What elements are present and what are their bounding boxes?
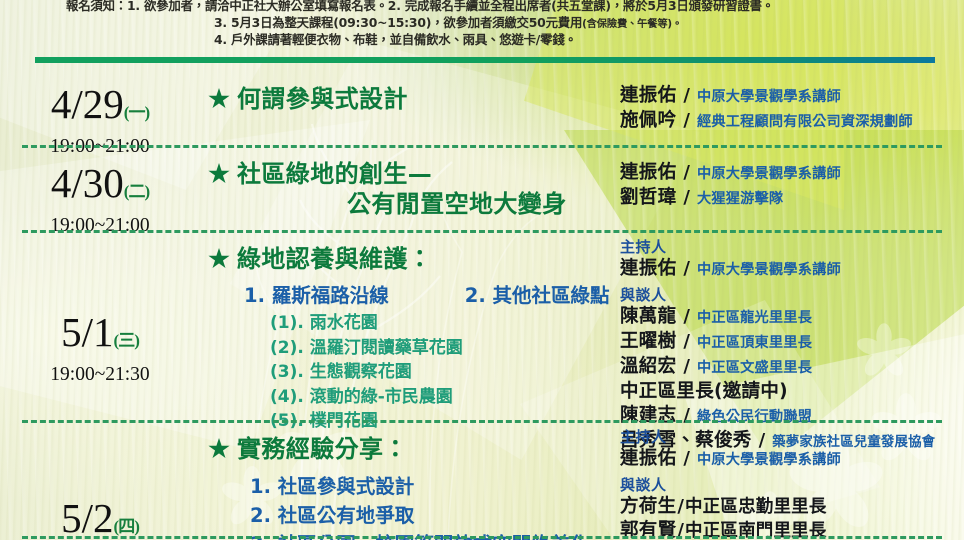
star-icon xyxy=(208,163,230,185)
speaker-name: 方荷生 xyxy=(620,495,676,519)
header-divider-rule xyxy=(35,57,935,63)
schedule-row: 4/29(一)19:00~21:00何謂參與式設計連振佑/中原大學景觀學系講師施… xyxy=(0,66,964,145)
speaker-name: 連振佑 xyxy=(620,161,676,185)
note-line-2: 3. 5月3日為整天課程(09:30~15:30)，欲參加者須繳交50元費用(含… xyxy=(18,15,946,33)
row-dashed-divider xyxy=(22,145,942,148)
speaker-line: 連振佑/中原大學景觀學系講師 xyxy=(620,447,960,472)
topic-numbered-item: 1. 社區參與式設計 xyxy=(250,472,614,501)
speaker-line: 中正區里長(邀請中) xyxy=(620,380,960,404)
speaker-name: 連振佑 xyxy=(620,84,676,108)
speaker-affiliation: 中正區文盛里里長 xyxy=(697,356,812,380)
speaker-separator: / xyxy=(676,305,697,329)
session-speakers-cell: 連振佑/中原大學景觀學系講師施佩吟/經典工程顧問有限公司資深規劃師 xyxy=(620,66,964,134)
panelist-label: 與談人 xyxy=(620,286,960,305)
speaker-affiliation: 中原大學景觀學系講師 xyxy=(697,162,841,186)
topic-sublist-item: 1. 羅斯福路沿線 xyxy=(244,283,389,309)
session-date: 4/29(一) xyxy=(0,82,200,135)
host-label: 主持人 xyxy=(620,238,960,257)
speaker-separator: / xyxy=(676,257,697,281)
speaker-line: 王曜樹/中正區頂東里里長 xyxy=(620,330,960,355)
speaker-affiliation: 中正區頂東里里長 xyxy=(697,331,812,355)
session-date-number: 4/30 xyxy=(51,160,124,206)
session-date: 4/30(二) xyxy=(0,161,200,214)
session-date-number: 4/29 xyxy=(51,81,124,127)
speaker-name: 王曜樹 xyxy=(620,330,676,354)
session-weekday: (四) xyxy=(114,517,139,536)
topic-title-line: 實務經驗分享： xyxy=(237,434,408,464)
topic-title: 實務經驗分享： xyxy=(237,434,408,464)
speaker-line: 陳萬龍/中正區龍光里里長 xyxy=(620,305,960,330)
speaker-affiliation: 中原大學景觀學系講師 xyxy=(697,85,841,109)
topic-sublist: 1. 羅斯福路沿線2. 其他社區綠點(1). 雨水花園(2). 溫羅汀閱讀藥草花… xyxy=(208,283,614,434)
topic-title-line: 公有閒置空地大變身 xyxy=(237,189,567,219)
speaker-name: 連振佑 xyxy=(620,257,676,281)
row-dashed-divider xyxy=(22,536,942,539)
topic-numbered-list: 1. 社區參與式設計2. 社區公有地爭取3. 社區公園、校園等開放式空間綠美化 xyxy=(208,472,614,540)
session-topic-cell: 何謂參與式設計 xyxy=(200,66,620,114)
topic-subsublist-item: (4). 滾動的綠-市民農園 xyxy=(270,385,614,410)
speaker-affiliation: 中原大學景觀學系講師 xyxy=(697,448,841,472)
star-icon xyxy=(208,438,230,460)
topic-heading: 何謂參與式設計 xyxy=(208,84,614,114)
topic-sublist-row: 1. 羅斯福路沿線2. 其他社區綠點 xyxy=(244,283,614,309)
speaker-line: 連振佑/中原大學景觀學系講師 xyxy=(620,84,960,109)
topic-title: 社區綠地的創生—公有閒置空地大變身 xyxy=(237,159,567,219)
speaker-separator: / xyxy=(676,109,697,133)
schedule-row: 5/2(四)19:00~21:30實務經驗分享：1. 社區參與式設計2. 社區公… xyxy=(0,420,964,540)
speaker-line: 連振佑/中原大學景觀學系講師 xyxy=(620,161,960,186)
speaker-separator: / xyxy=(676,186,697,210)
session-date: 5/1(三) xyxy=(0,310,200,363)
course-schedule-poster: 報名須知：1. 欲參加者，請洽中正社大辦公室填寫報名表。2. 完成報名手續並全程… xyxy=(0,0,964,540)
row-dashed-divider xyxy=(22,230,942,233)
host-label: 主持人 xyxy=(620,428,960,447)
session-date-number: 5/2 xyxy=(61,495,113,540)
speaker-line: 連振佑/中原大學景觀學系講師 xyxy=(620,257,960,282)
note-line-2-main: 3. 5月3日為整天課程(09:30~15:30)，欲參加者須繳交50元費用 xyxy=(214,15,582,30)
panelist-label: 與談人 xyxy=(620,476,960,495)
session-date-cell: 5/2(四)19:00~21:30 xyxy=(0,420,200,540)
speaker-affiliation: 中原大學景觀學系講師 xyxy=(697,258,841,282)
topic-subsublist-item: (1). 雨水花園 xyxy=(270,311,614,336)
star-icon xyxy=(208,248,230,270)
note-line-1: 報名須知：1. 欲參加者，請洽中正社大辦公室填寫報名表。2. 完成報名手續並全程… xyxy=(18,0,946,15)
session-topic-cell: 綠地認養與維護：1. 羅斯福路沿線2. 其他社區綠點(1). 雨水花園(2). … xyxy=(200,230,620,434)
schedule-table: 4/29(一)19:00~21:00何謂參與式設計連振佑/中原大學景觀學系講師施… xyxy=(0,66,964,540)
topic-subsublist-item: (2). 溫羅汀閱讀藥草花園 xyxy=(270,336,614,361)
session-weekday: (三) xyxy=(114,331,139,350)
topic-subsublist-item: (3). 生態觀察花園 xyxy=(270,360,614,385)
topic-heading: 實務經驗分享： xyxy=(208,434,614,464)
speaker-affiliation: 大猩猩游擊隊 xyxy=(697,187,783,211)
speaker-separator: / xyxy=(676,84,697,108)
speaker-name: 劉哲瑋 xyxy=(620,186,676,210)
session-speakers-cell: 連振佑/中原大學景觀學系講師劉哲瑋/大猩猩游擊隊 xyxy=(620,145,964,211)
speaker-name: 溫紹宏 xyxy=(620,355,676,379)
note-line-3: 4. 戶外課請著輕便衣物、布鞋，並自備飲水、雨具、悠遊卡/零錢。 xyxy=(18,32,946,49)
topic-title-line: 何謂參與式設計 xyxy=(237,84,408,114)
topic-numbered-item: 2. 社區公有地爭取 xyxy=(250,501,614,530)
speaker-line: 劉哲瑋/大猩猩游擊隊 xyxy=(620,186,960,211)
registration-notes: 報名須知：1. 欲參加者，請洽中正社大辦公室填寫報名表。2. 完成報名手續並全程… xyxy=(0,0,964,49)
speaker-name: 連振佑 xyxy=(620,447,676,471)
session-speakers-cell: 主持人連振佑/中原大學景觀學系講師與談人方荷生/中正區忠勤里里長郭有賢/中正區南… xyxy=(620,420,964,540)
speaker-line: 施佩吟/經典工程顧問有限公司資深規劃師 xyxy=(620,109,960,134)
session-date-cell: 4/30(二)19:00~21:00 xyxy=(0,145,200,237)
topic-title-line: 社區綠地的創生— xyxy=(237,159,567,189)
session-topic-cell: 社區綠地的創生—公有閒置空地大變身 xyxy=(200,145,620,219)
topic-heading: 綠地認養與維護： xyxy=(208,244,614,274)
speaker-line: 溫紹宏/中正區文盛里里長 xyxy=(620,355,960,380)
star-icon xyxy=(208,88,230,110)
session-topic-cell: 實務經驗分享：1. 社區參與式設計2. 社區公有地爭取3. 社區公園、校園等開放… xyxy=(200,420,620,540)
topic-subsublist: (1). 雨水花園(2). 溫羅汀閱讀藥草花園(3). 生態觀察花園(4). 滾… xyxy=(244,311,614,434)
session-weekday: (二) xyxy=(124,182,149,201)
speaker-name: 陳萬龍 xyxy=(620,305,676,329)
schedule-row: 5/1(三)19:00~21:30綠地認養與維護：1. 羅斯福路沿線2. 其他社… xyxy=(0,230,964,420)
speaker-name: 施佩吟 xyxy=(620,109,676,133)
note-line-2-paren: (含保險費、午餐等)。 xyxy=(582,18,682,30)
session-weekday: (一) xyxy=(124,103,149,122)
speaker-separator: / xyxy=(676,330,697,354)
row-dashed-divider xyxy=(22,420,942,423)
topic-title: 何謂參與式設計 xyxy=(237,84,408,114)
session-time: 19:00~21:30 xyxy=(0,363,200,386)
speaker-affiliation: 經典工程顧問有限公司資深規劃師 xyxy=(697,110,913,134)
speaker-affiliation: 中正區忠勤里里長 xyxy=(685,495,827,519)
speaker-line: 方荷生/中正區忠勤里里長 xyxy=(620,495,960,519)
schedule-row: 4/30(二)19:00~21:00社區綠地的創生—公有閒置空地大變身連振佑/中… xyxy=(0,145,964,230)
topic-title: 綠地認養與維護： xyxy=(237,244,432,274)
speaker-separator: / xyxy=(676,161,697,185)
topic-sublist-item: 2. 其他社區綠點 xyxy=(465,283,610,309)
session-date-number: 5/1 xyxy=(61,309,113,355)
topic-heading: 社區綠地的創生—公有閒置空地大變身 xyxy=(208,159,614,219)
speaker-name: 中正區里長(邀請中) xyxy=(620,380,788,404)
speaker-separator: / xyxy=(676,495,685,519)
speaker-affiliation: 中正區龍光里里長 xyxy=(697,306,812,330)
speaker-separator: / xyxy=(676,447,697,471)
session-date-cell: 5/1(三)19:00~21:30 xyxy=(0,230,200,386)
session-date: 5/2(四) xyxy=(0,496,200,540)
speaker-separator: / xyxy=(676,355,697,379)
topic-title-line: 綠地認養與維護： xyxy=(237,244,432,274)
